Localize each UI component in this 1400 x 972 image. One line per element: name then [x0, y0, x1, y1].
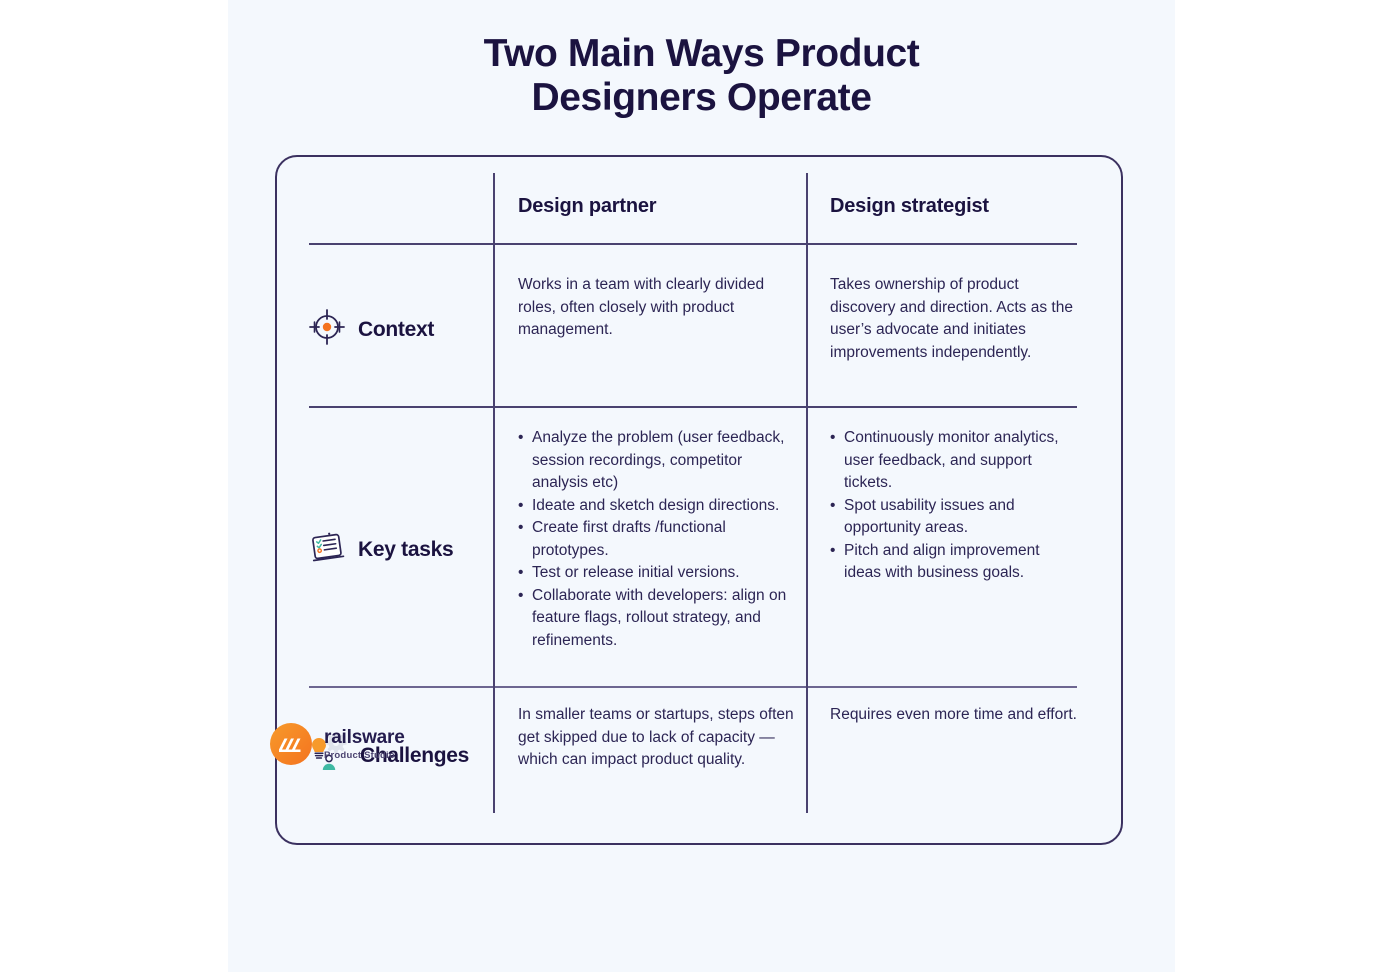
- list-item: Analyze the problem (user feedback, sess…: [518, 427, 796, 495]
- cell-key-tasks-design-strategist: Continuously monitor analytics, user fee…: [830, 427, 1078, 585]
- divider-column-1: [493, 173, 495, 813]
- cell-key-tasks-design-partner: Analyze the problem (user feedback, sess…: [518, 427, 796, 652]
- list-item: Test or release initial versions.: [518, 562, 796, 585]
- list-item: Spot usability issues and opportunity ar…: [830, 495, 1078, 540]
- checklist-document-icon: [307, 527, 347, 572]
- railsware-logo-text: railsware Product Studio: [324, 728, 405, 761]
- divider-header: [309, 243, 1077, 245]
- bullet-list: Analyze the problem (user feedback, sess…: [518, 427, 796, 652]
- column-header-design-partner: Design partner: [518, 195, 656, 218]
- row-label-key-tasks: Key tasks: [307, 527, 493, 572]
- cell-challenges-design-strategist: Requires even more time and effort.: [830, 704, 1078, 727]
- list-item: Create first drafts /functional prototyp…: [518, 517, 796, 562]
- column-header-design-strategist: Design strategist: [830, 195, 989, 218]
- infographic-page: Two Main Ways Product Designers Operate …: [0, 0, 1400, 972]
- row-label-text-context: Context: [358, 318, 434, 342]
- row-label-text-key-tasks: Key tasks: [358, 538, 453, 562]
- canvas-background: Two Main Ways Product Designers Operate …: [228, 0, 1175, 972]
- bullet-list: Continuously monitor analytics, user fee…: [830, 427, 1078, 585]
- list-item: Pitch and align improvement ideas with b…: [830, 540, 1078, 585]
- brand-tagline: Product Studio: [324, 751, 405, 761]
- cell-text: Requires even more time and effort.: [830, 704, 1078, 727]
- divider-row-context: [309, 406, 1077, 408]
- divider-column-2: [806, 173, 808, 813]
- cell-text: In smaller teams or startups, steps ofte…: [518, 704, 796, 772]
- list-item: Collaborate with developers: align on fe…: [518, 585, 796, 653]
- cell-text: Takes ownership of product discovery and…: [830, 274, 1078, 364]
- railsware-logo-mark-icon: [270, 723, 312, 765]
- page-title: Two Main Ways Product Designers Operate: [228, 32, 1175, 120]
- page-title-line-1: Two Main Ways Product: [228, 32, 1175, 76]
- list-item: Ideate and sketch design directions.: [518, 495, 796, 518]
- brand-name: railsware: [324, 728, 405, 747]
- list-item: Continuously monitor analytics, user fee…: [830, 427, 1078, 495]
- divider-row-key-tasks: [309, 686, 1077, 688]
- cell-text: Works in a team with clearly divided rol…: [518, 274, 796, 342]
- cell-context-design-partner: Works in a team with clearly divided rol…: [518, 274, 796, 342]
- row-label-context: Context: [307, 307, 493, 352]
- cell-context-design-strategist: Takes ownership of product discovery and…: [830, 274, 1078, 364]
- crosshair-target-icon: [307, 307, 347, 352]
- cell-challenges-design-partner: In smaller teams or startups, steps ofte…: [518, 704, 796, 772]
- page-title-line-2: Designers Operate: [228, 76, 1175, 120]
- railsware-logo: railsware Product Studio: [270, 723, 405, 765]
